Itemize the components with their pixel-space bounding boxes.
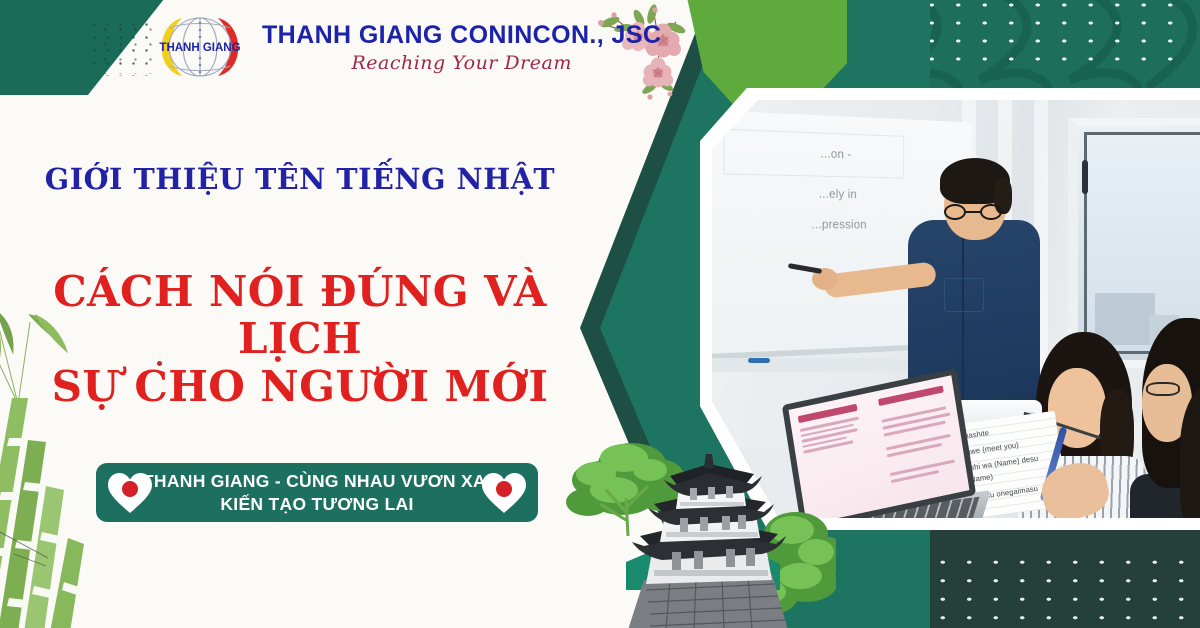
cta-banner[interactable]: THANH GIANG - CÙNG NHAU VƯƠN XA, KIẾN TẠ… [96, 463, 538, 522]
company-slogan: Reaching Your Dream [351, 52, 571, 74]
banner-canvas: ...on - ...ely in ...pression [0, 0, 1200, 628]
kicker-text: GIỚI THIỆU TÊN TIẾNG NHẬT [0, 162, 600, 196]
dot-grid-top-right [892, 0, 1192, 66]
whiteboard-line-2: ...ely in [819, 186, 857, 201]
photo-teacher-glasses [944, 204, 1002, 220]
dot-grid-bottom-right [903, 553, 1188, 628]
headline: CÁCH NÓI ĐÚNG VÀ LỊCH SỰ CHO NGƯỜI MỚI [0, 268, 600, 410]
decorative-red-dot [157, 361, 162, 366]
whiteboard-line-3: ...pression [812, 217, 867, 231]
globe-logo-icon: THANH GIANG [148, 14, 252, 80]
cta-text: THANH GIANG - CÙNG NHAU VƯƠN XA, KIẾN TẠ… [99, 470, 535, 516]
whiteboard-line-1: ...on - [821, 146, 852, 161]
headline-line-1: CÁCH NÓI ĐÚNG VÀ LỊCH [53, 267, 547, 363]
brand-header: THANH GIANG THANH GIANG CONINCON., JSC R… [148, 14, 661, 80]
company-name: THANH GIANG CONINCON., JSC [262, 21, 661, 50]
logo-badge-text: THANH GIANG [159, 42, 240, 54]
cta-line-2: KIẾN TẠO TƯƠNG LAI [143, 493, 491, 516]
japan-flag-heart-icon [480, 471, 528, 515]
thanh-giang-globe-logo: THANH GIANG [148, 14, 252, 80]
brand-lockup: THANH GIANG CONINCON., JSC Reaching Your… [262, 21, 661, 74]
japan-flag-heart-icon [106, 471, 154, 515]
japanese-castle-icon [566, 424, 836, 628]
cta-line-1: THANH GIANG - CÙNG NHAU VƯƠN XA, [143, 471, 491, 491]
headline-line-2: SỰ CHO NGƯỜI MỚI [0, 363, 600, 410]
